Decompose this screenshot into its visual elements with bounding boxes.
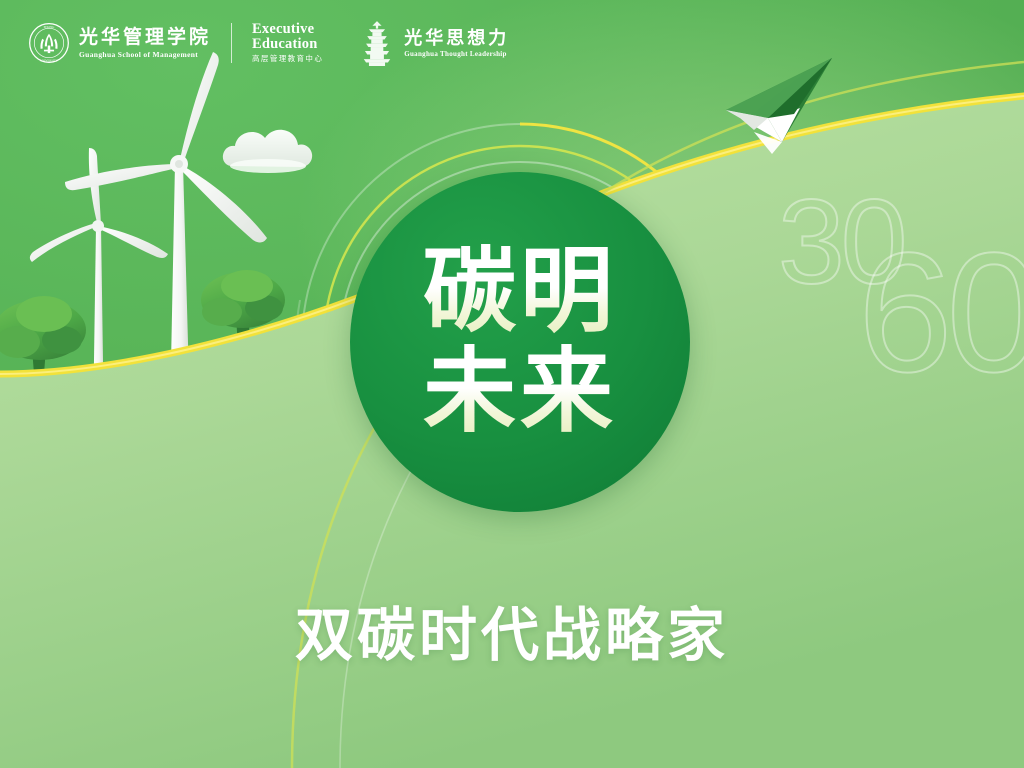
cloud-icon [223,130,312,173]
peking-university-seal-icon: PEKING UNIVERSITY [28,22,70,64]
guanghua-cn-name: 光华管理学院 [79,27,211,48]
boya-pagoda-icon [359,20,395,66]
svg-text:UNIVERSITY: UNIVERSITY [40,58,58,62]
thought-leadership-en: Guanghua Thought Leadership [404,50,509,58]
logo-bar: PEKING UNIVERSITY 光华管理学院 Guanghua School… [28,20,509,66]
exec-edu-cn: 高层管理教育中心 [252,53,323,64]
poster-root: 30 60 碳明 未来 双碳时代战略家 PEKING UNIVERSITY [0,0,1024,768]
executive-education-logo: Executive Education 高层管理教育中心 [252,22,323,65]
exec-edu-line1: Executive [252,22,323,37]
thought-leadership-logo: 光华思想力 Guanghua Thought Leadership [359,20,509,66]
guanghua-logo: PEKING UNIVERSITY 光华管理学院 Guanghua School… [28,22,211,64]
poster-subtitle: 双碳时代战略家 [0,588,1024,672]
guanghua-en-name: Guanghua School of Management [79,50,211,59]
svg-text:PEKING: PEKING [44,25,56,29]
emblem-circle: 碳明 未来 [350,172,690,512]
emblem-title-line1: 碳明 [423,244,617,340]
logo-divider [231,23,232,63]
exec-edu-line2: Education [252,37,323,52]
emblem-title-line2: 未来 [423,344,617,440]
thought-leadership-cn: 光华思想力 [404,28,509,48]
